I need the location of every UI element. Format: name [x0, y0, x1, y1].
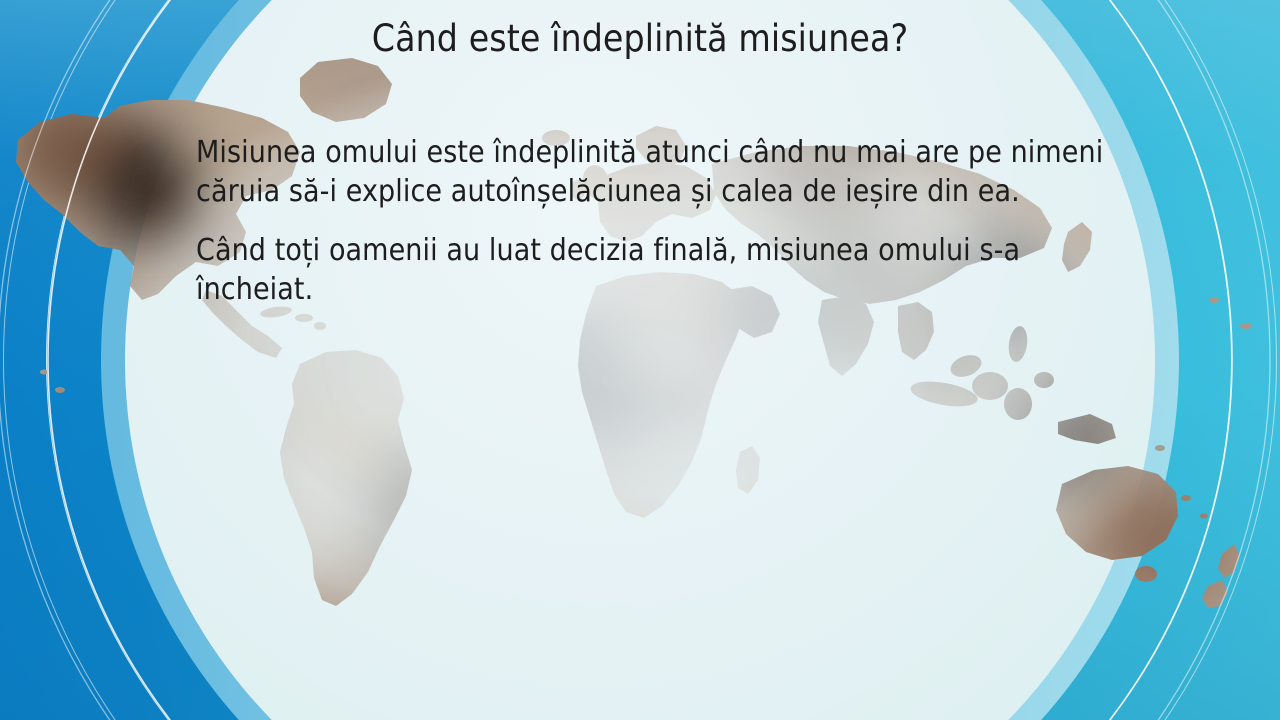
- slide-body: Misiunea omului este îndeplinită atunci …: [196, 133, 1136, 309]
- body-paragraph-1: Misiunea omului este îndeplinită atunci …: [196, 133, 1136, 211]
- page-title: Când este îndeplinită misiunea?: [0, 18, 1280, 59]
- slide-canvas: Când este îndeplinită misiunea? Misiunea…: [0, 0, 1280, 720]
- body-paragraph-2: Când toți oamenii au luat decizia finală…: [196, 231, 1136, 309]
- globe-inner-disc: [125, 0, 1155, 720]
